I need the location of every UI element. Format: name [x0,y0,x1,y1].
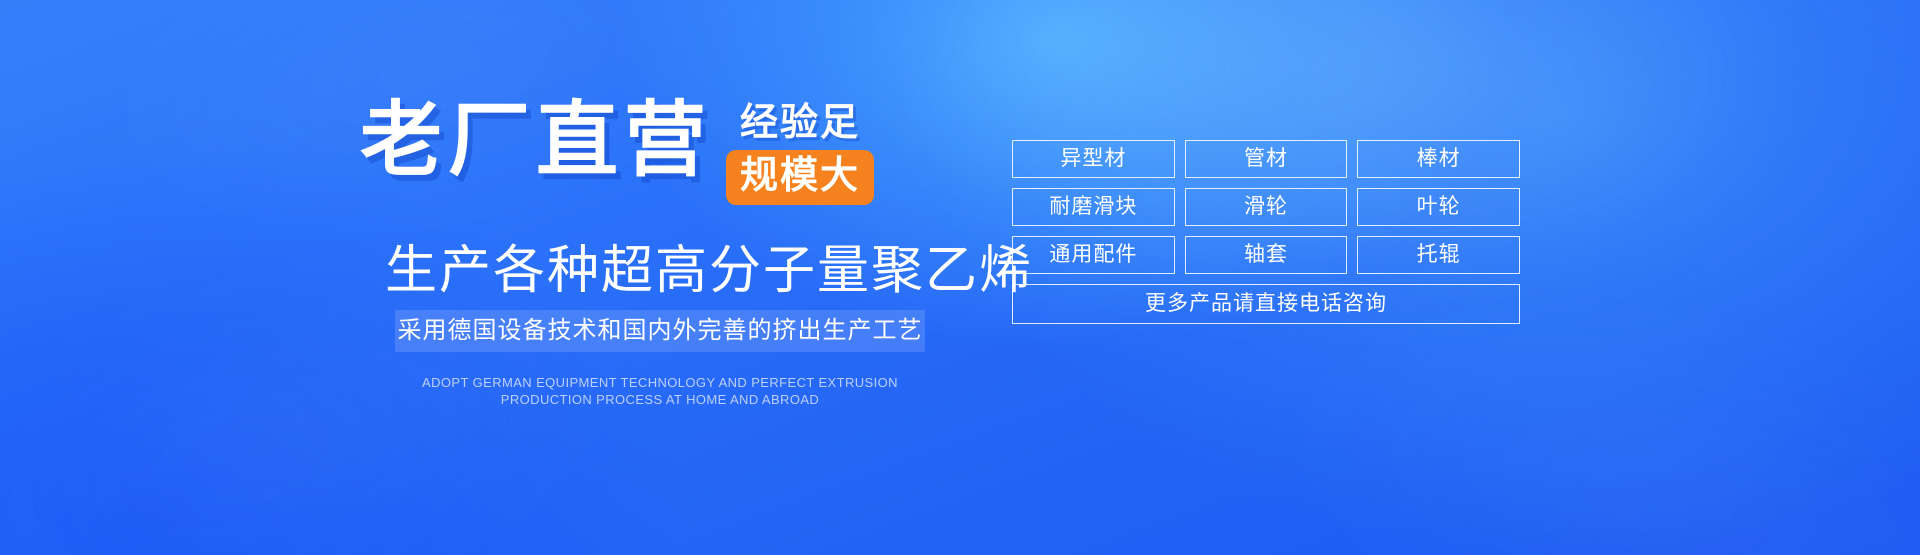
product-button-bangcai[interactable]: 棒材 [1357,140,1520,178]
headline: 老厂直营 [360,98,712,184]
product-row-3: 通用配件 轴套 托辊 [1012,236,1520,274]
product-row-1: 异型材 管材 棒材 [1012,140,1520,178]
product-button-naimohuakuai[interactable]: 耐磨滑块 [1012,188,1175,226]
product-row-4: 更多产品请直接电话咨询 [1012,284,1520,324]
product-button-yixingcai[interactable]: 异型材 [1012,140,1175,178]
ribbon-text: 采用德国设备技术和国内外完善的挤出生产工艺 [398,317,923,345]
english-tagline-line-2: PRODUCTION PROCESS AT HOME AND ABROAD [395,391,925,408]
english-tagline-line-1: ADOPT GERMAN EQUIPMENT TECHNOLOGY AND PE… [395,374,925,391]
product-button-tuogun[interactable]: 托辊 [1357,236,1520,274]
product-row-2: 耐磨滑块 滑轮 叶轮 [1012,188,1520,226]
english-tagline: ADOPT GERMAN EQUIPMENT TECHNOLOGY AND PE… [395,374,925,408]
headline-badges: 经验足 规模大 [726,102,874,205]
badge-experience: 经验足 [740,102,860,144]
product-button-guancai[interactable]: 管材 [1185,140,1348,178]
subtitle: 生产各种超高分子量聚乙烯 [385,242,1033,300]
product-button-yelun[interactable]: 叶轮 [1357,188,1520,226]
headline-row: 老厂直营 经验足 规模大 [360,98,874,205]
product-category-panel: 异型材 管材 棒材 耐磨滑块 滑轮 叶轮 通用配件 轴套 托辊 更多产品请直接电… [1012,140,1520,324]
product-button-hualun[interactable]: 滑轮 [1185,188,1348,226]
product-button-zhoutao[interactable]: 轴套 [1185,236,1348,274]
promo-banner: 老厂直营 经验足 规模大 生产各种超高分子量聚乙烯 采用德国设备技术和国内外完善… [0,0,1920,555]
product-button-tongyongpeijian[interactable]: 通用配件 [1012,236,1175,274]
hero-text-block: 老厂直营 经验足 规模大 生产各种超高分子量聚乙烯 采用德国设备技术和国内外完善… [0,0,1010,555]
badge-scale: 规模大 [726,150,874,205]
more-products-button[interactable]: 更多产品请直接电话咨询 [1012,284,1520,324]
ribbon-banner: 采用德国设备技术和国内外完善的挤出生产工艺 [395,310,925,352]
